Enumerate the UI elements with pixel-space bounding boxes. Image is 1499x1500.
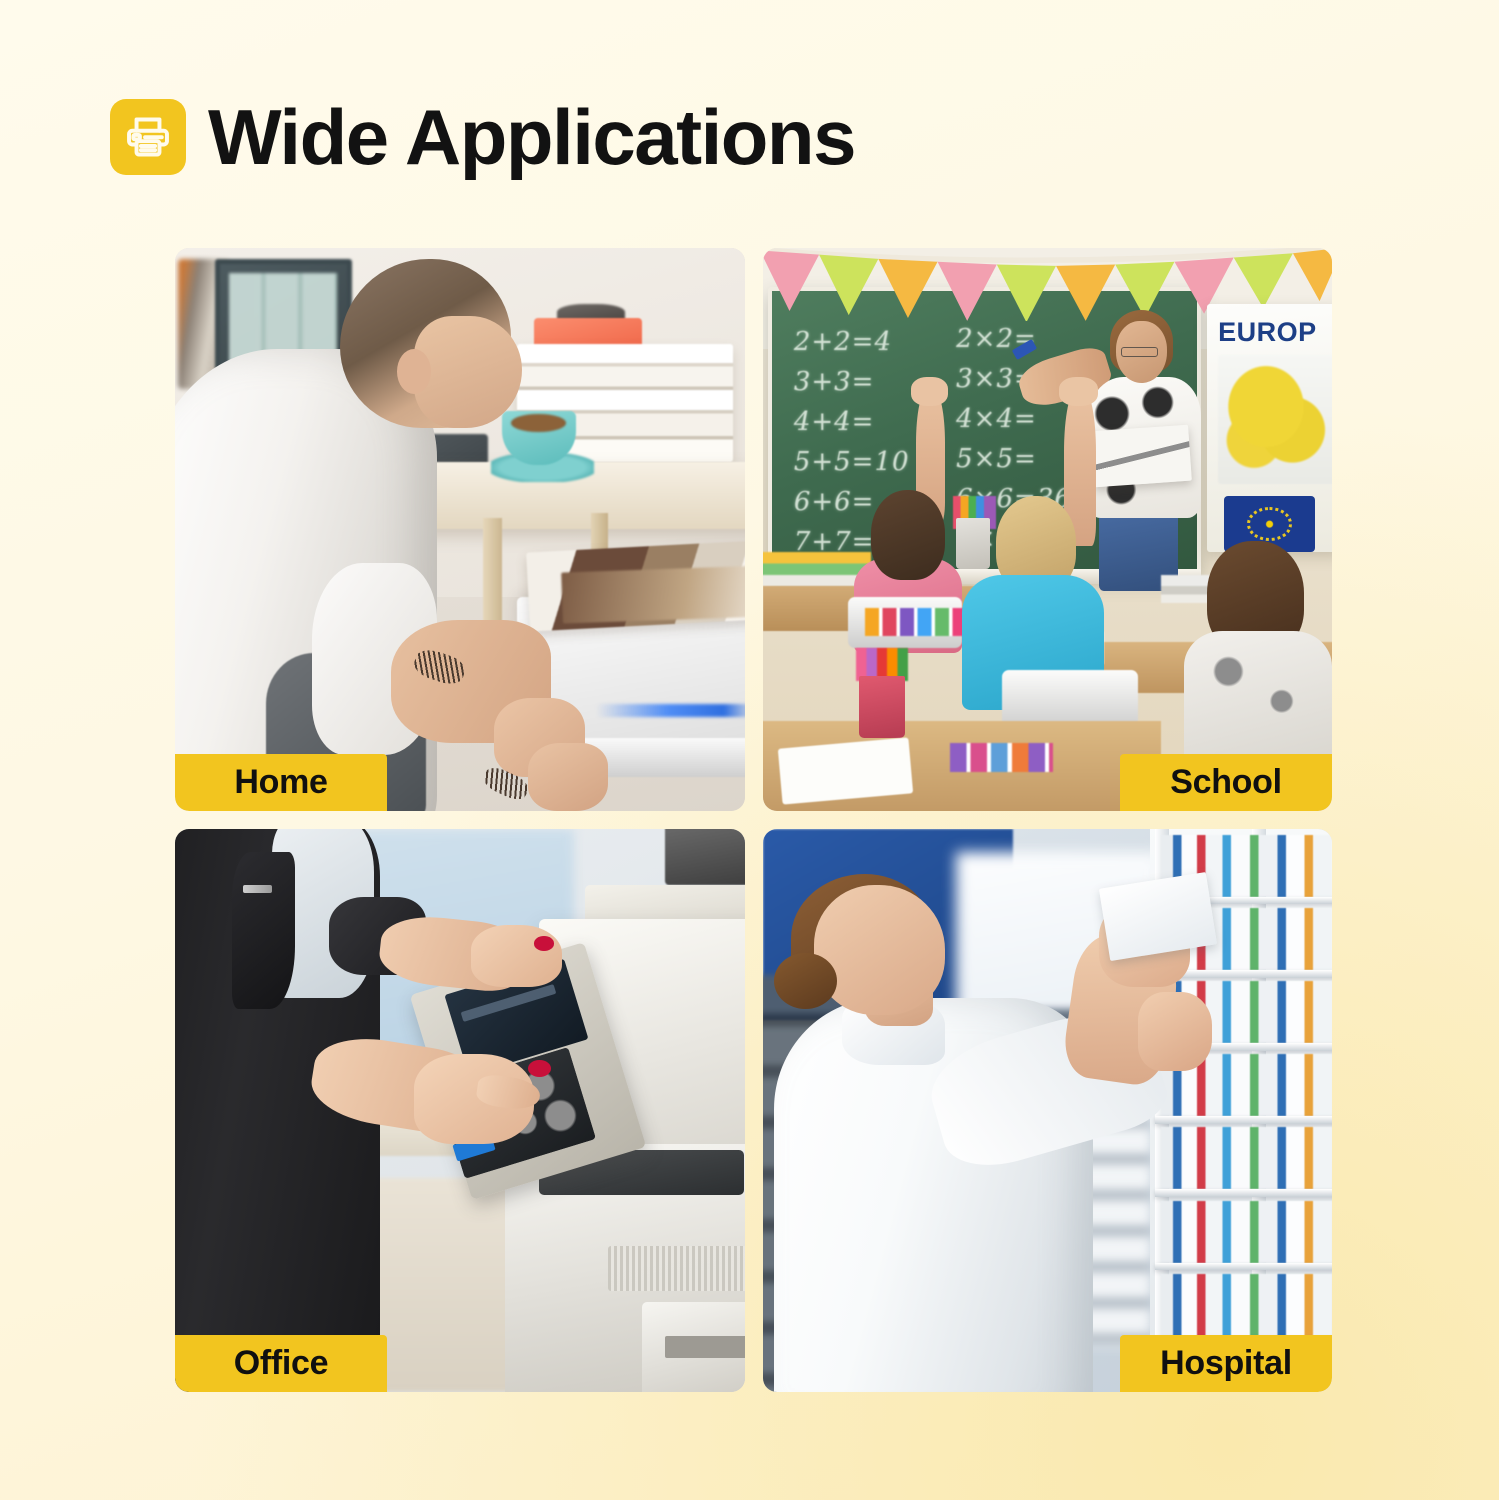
application-card-hospital[interactable]: Hospital: [763, 829, 1333, 1392]
application-card-school[interactable]: 2+2=4 3+3= 4+4= 5+5=10 6+6= 7+7= 2×2= 3×…: [763, 248, 1333, 811]
card-label-hospital: Hospital: [1120, 1335, 1332, 1392]
printer-icon: [110, 99, 186, 175]
page-title: Wide Applications: [208, 98, 855, 176]
application-card-office[interactable]: Office: [175, 829, 745, 1392]
card-label-school: School: [1120, 754, 1332, 811]
applications-grid: Home 2+2=4 3+3= 4+4= 5+5=10 6+6= 7+7= 2×…: [175, 248, 1332, 1392]
office-photo: [175, 829, 745, 1392]
home-photo: [175, 248, 745, 811]
application-card-home[interactable]: Home: [175, 248, 745, 811]
page-header: Wide Applications: [110, 98, 855, 176]
europe-poster-text: EUROP: [1218, 318, 1332, 346]
card-label-home: Home: [175, 754, 387, 811]
hospital-photo: [763, 829, 1333, 1392]
school-photo: 2+2=4 3+3= 4+4= 5+5=10 6+6= 7+7= 2×2= 3×…: [763, 248, 1333, 811]
card-label-office: Office: [175, 1335, 387, 1392]
